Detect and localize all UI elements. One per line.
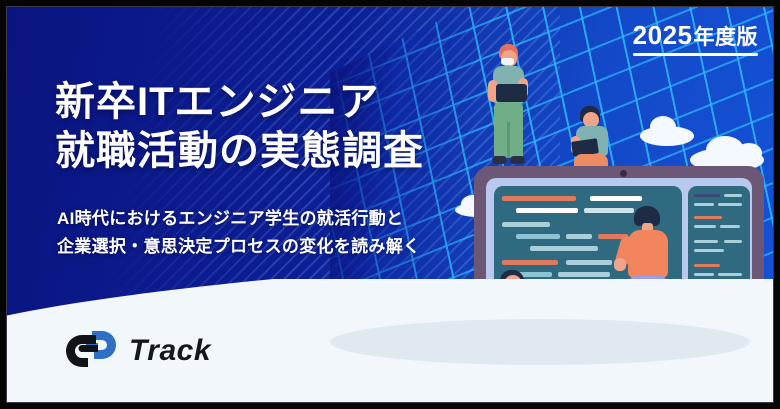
code-line bbox=[694, 194, 720, 197]
tablet-icon bbox=[496, 84, 527, 102]
track-logo[interactable]: Track bbox=[62, 329, 211, 373]
code-line bbox=[720, 225, 740, 228]
code-line bbox=[502, 222, 550, 227]
code-line bbox=[694, 264, 720, 267]
code-line bbox=[724, 194, 742, 197]
code-line bbox=[718, 273, 742, 276]
code-line bbox=[694, 216, 722, 219]
person-leg-gap bbox=[507, 122, 510, 158]
person-torso bbox=[628, 230, 668, 278]
title-line-1: 新卒ITエンジニア bbox=[55, 78, 424, 127]
survey-report-banner: 2025年度版 新卒ITエンジニア 就職活動の実態調査 AI時代におけるエンジニ… bbox=[0, 0, 780, 409]
laptop-shadow-ellipse bbox=[330, 319, 750, 365]
code-line bbox=[694, 273, 714, 276]
code-line bbox=[590, 196, 642, 201]
badge-suffix: 年度版 bbox=[694, 26, 759, 49]
code-line bbox=[516, 234, 560, 239]
code-line bbox=[694, 203, 714, 206]
code-line bbox=[694, 240, 718, 243]
code-line bbox=[566, 260, 612, 265]
standing-person-with-tablet bbox=[482, 44, 538, 168]
code-line bbox=[694, 225, 716, 228]
track-logo-mark-icon bbox=[62, 329, 118, 373]
person-hand bbox=[614, 258, 626, 271]
badge-year: 2025 bbox=[633, 20, 693, 50]
code-line bbox=[566, 234, 592, 239]
code-line bbox=[516, 208, 578, 213]
person-mask bbox=[501, 58, 514, 65]
badge-underline bbox=[633, 53, 758, 56]
page-title: 新卒ITエンジニア 就職活動の実態調査 bbox=[55, 78, 424, 176]
page-subtitle: AI時代におけるエンジニア学生の就活行動と 企業選択・意思決定プロセスの変化を読… bbox=[57, 205, 420, 260]
code-line bbox=[530, 246, 598, 251]
person-shoe bbox=[492, 156, 507, 164]
code-line bbox=[724, 240, 742, 243]
code-line bbox=[694, 249, 724, 252]
subtitle-line-1: AI時代におけるエンジニア学生の就活行動と bbox=[57, 205, 420, 233]
subtitle-line-2: 企業選択・意思決定プロセスの変化を読み解く bbox=[57, 233, 420, 261]
code-line bbox=[718, 203, 742, 206]
track-wordmark: Track bbox=[129, 336, 211, 366]
code-line bbox=[502, 260, 558, 265]
code-line bbox=[558, 272, 610, 277]
year-edition-badge: 2025年度版 bbox=[633, 22, 758, 56]
person-shoe bbox=[510, 156, 525, 164]
code-line bbox=[502, 196, 576, 201]
badge-text: 2025年度版 bbox=[633, 22, 758, 48]
title-line-2: 就職活動の実態調査 bbox=[55, 127, 424, 176]
laptop-camera-dot bbox=[620, 170, 627, 177]
